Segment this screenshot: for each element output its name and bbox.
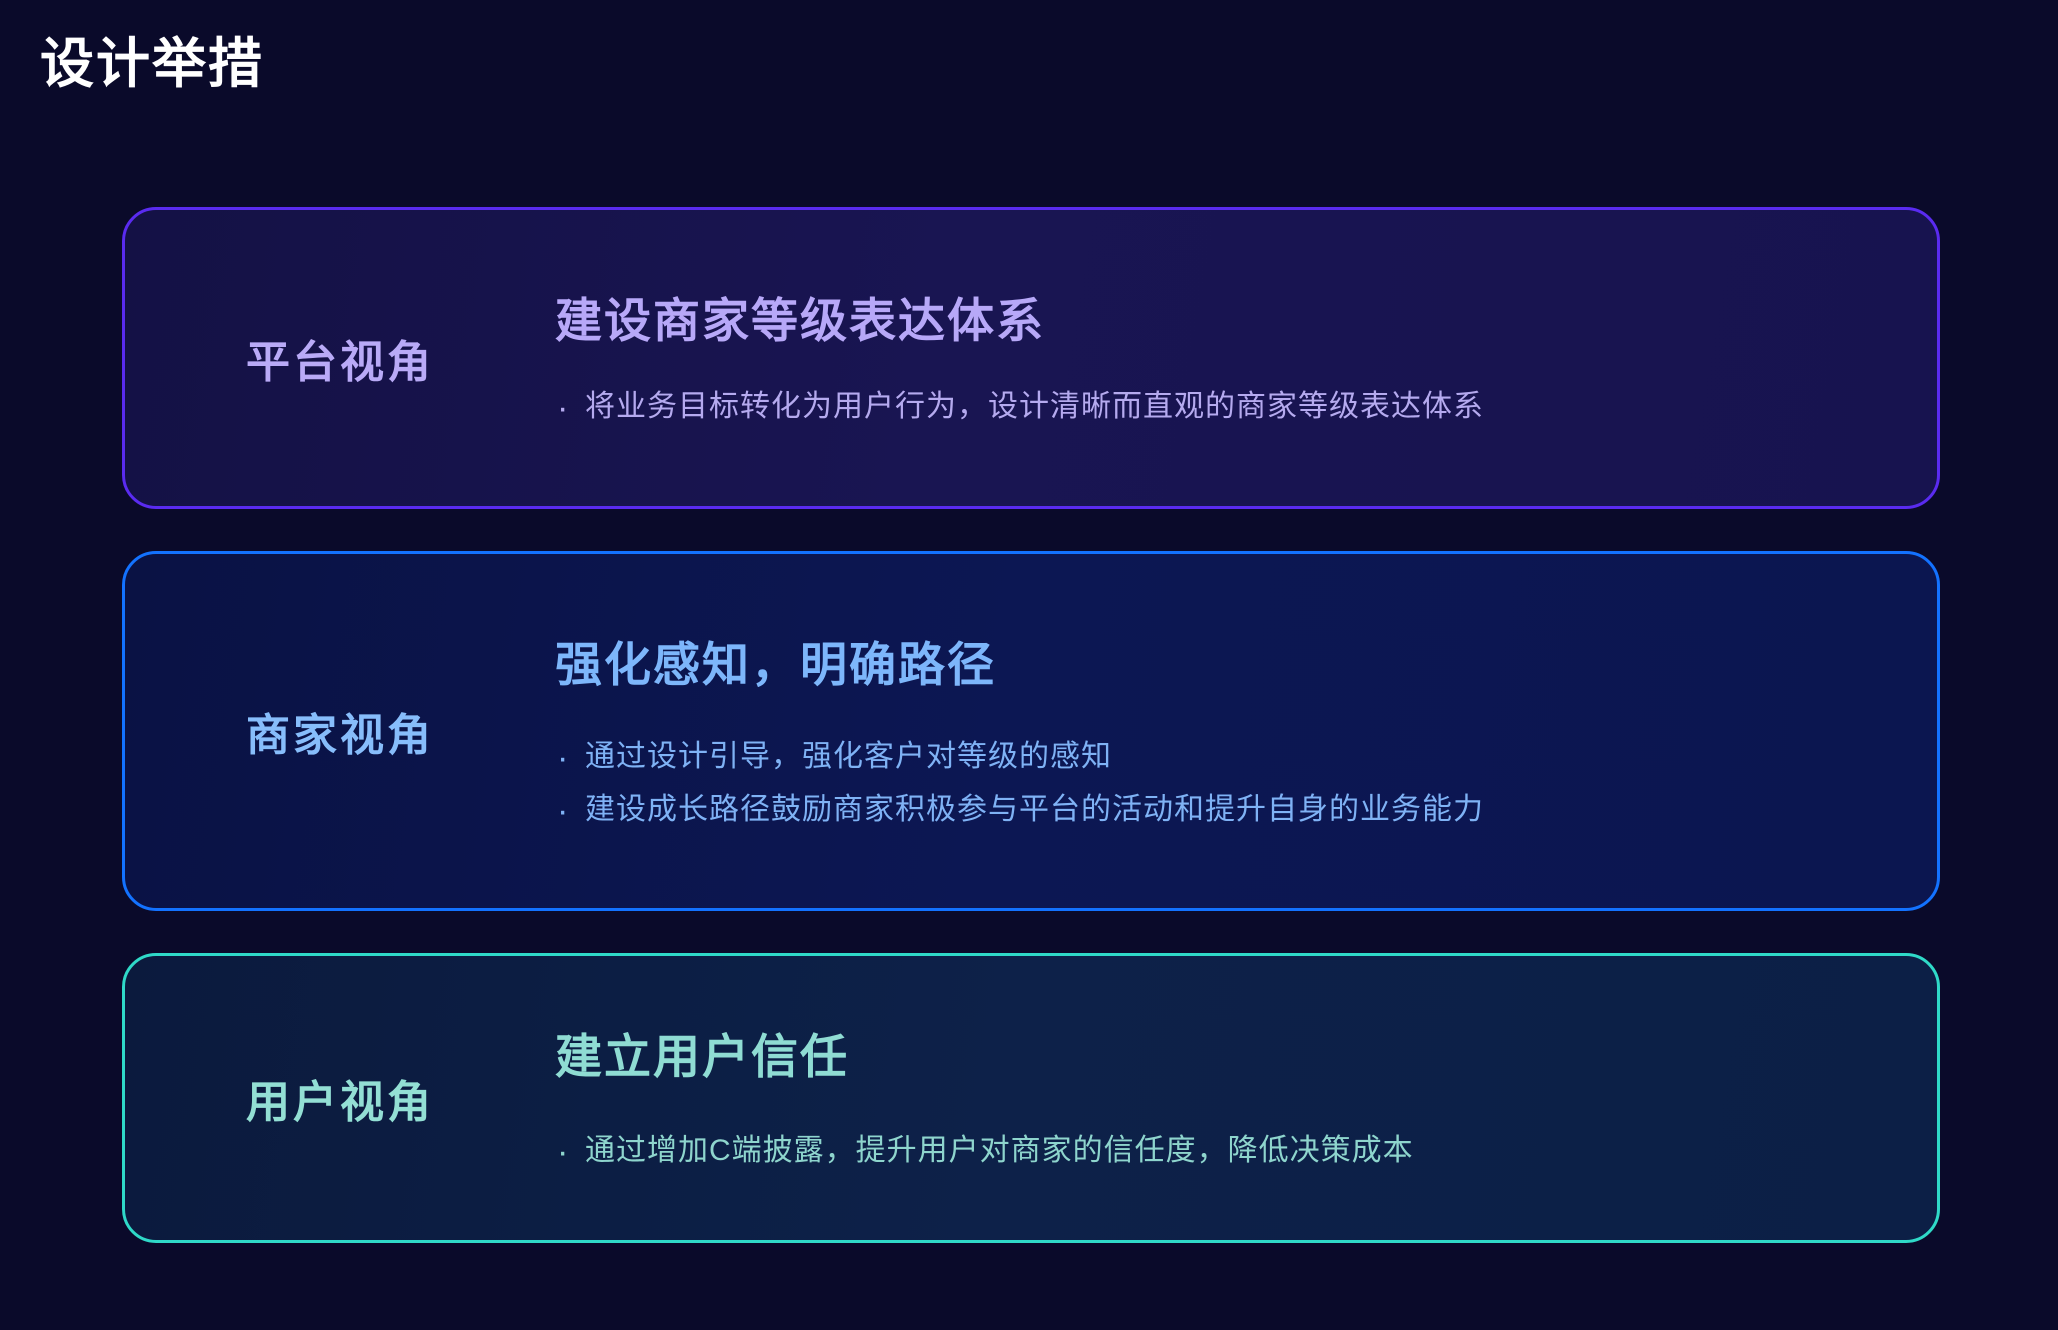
card-body-platform: 建设商家等级表达体系 将业务目标转化为用户行为，设计清晰而直观的商家等级表达体系: [555, 282, 1937, 434]
bullet-item: 通过增加C端披露，提升用户对商家的信任度，降低决策成本: [555, 1125, 1877, 1178]
card-body-merchant: 强化感知，明确路径 通过设计引导，强化客户对等级的感知 建设成长路径鼓励商家积极…: [555, 626, 1937, 836]
bullet-list-merchant: 通过设计引导，强化客户对等级的感知 建设成长路径鼓励商家积极参与平台的活动和提升…: [555, 731, 1877, 836]
perspective-label-user: 用户视角: [125, 1066, 555, 1130]
bullet-item: 通过设计引导，强化客户对等级的感知: [555, 731, 1877, 784]
perspective-card-user: 用户视角 建立用户信任 通过增加C端披露，提升用户对商家的信任度，降低决策成本: [122, 953, 1940, 1243]
perspective-card-merchant: 商家视角 强化感知，明确路径 通过设计引导，强化客户对等级的感知 建设成长路径鼓…: [122, 551, 1940, 911]
card-heading-merchant: 强化感知，明确路径: [555, 626, 1877, 695]
card-body-user: 建立用户信任 通过增加C端披露，提升用户对商家的信任度，降低决策成本: [555, 1018, 1937, 1178]
card-heading-user: 建立用户信任: [555, 1018, 1877, 1087]
bullet-item: 将业务目标转化为用户行为，设计清晰而直观的商家等级表达体系: [555, 381, 1877, 434]
perspective-card-platform: 平台视角 建设商家等级表达体系 将业务目标转化为用户行为，设计清晰而直观的商家等…: [122, 207, 1940, 509]
perspective-label-merchant: 商家视角: [125, 699, 555, 763]
design-measures-card-list: 平台视角 建设商家等级表达体系 将业务目标转化为用户行为，设计清晰而直观的商家等…: [122, 207, 1940, 1243]
card-heading-platform: 建设商家等级表达体系: [555, 282, 1877, 351]
bullet-list-user: 通过增加C端披露，提升用户对商家的信任度，降低决策成本: [555, 1125, 1877, 1178]
page-title: 设计举措: [40, 32, 264, 97]
bullet-list-platform: 将业务目标转化为用户行为，设计清晰而直观的商家等级表达体系: [555, 381, 1877, 434]
perspective-label-platform: 平台视角: [125, 326, 555, 390]
bullet-item: 建设成长路径鼓励商家积极参与平台的活动和提升自身的业务能力: [555, 784, 1877, 837]
